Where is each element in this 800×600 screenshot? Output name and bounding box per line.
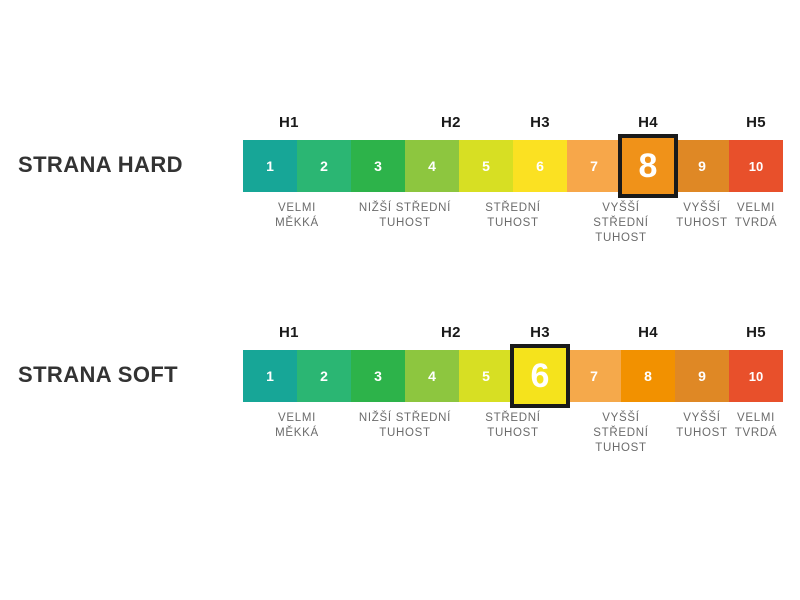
selected-hardness-value: 6: [531, 357, 550, 396]
scale-cell-value: 8: [644, 368, 652, 384]
scale-cell-1-hard[interactable]: 1: [243, 140, 297, 192]
row-title-soft: STRANA SOFT: [18, 362, 230, 388]
stiffness-descriptor-soft-4: VYŠŠÍ STŘEDNÍ TUHOST: [567, 411, 675, 456]
stiffness-descriptor-hard-4: VYŠŠÍ STŘEDNÍ TUHOST: [567, 201, 675, 246]
stiffness-descriptor-soft-2: NIŽŠÍ STŘEDNÍ TUHOST: [351, 411, 459, 441]
scale-cell-value: 3: [374, 158, 382, 174]
stiffness-descriptor-soft-3: STŘEDNÍ TUHOST: [459, 411, 567, 441]
selected-hardness-value: 8: [639, 147, 658, 186]
scale-cell-2-soft[interactable]: 2: [297, 350, 351, 402]
scale-cell-value: 2: [320, 368, 328, 384]
h-group-label-h4-soft: H4: [638, 324, 658, 341]
stiffness-descriptor-hard-2: NIŽŠÍ STŘEDNÍ TUHOST: [351, 201, 459, 231]
scale-cell-1-soft[interactable]: 1: [243, 350, 297, 402]
scale-cell-value: 7: [590, 368, 598, 384]
h-group-label-h3-soft: H3: [530, 324, 550, 341]
stiffness-descriptor-hard-3: STŘEDNÍ TUHOST: [459, 201, 567, 231]
scale-cell-value: 5: [482, 158, 490, 174]
scale-cell-9-soft[interactable]: 9: [675, 350, 729, 402]
stiffness-descriptor-soft-6: VELMI TVRDÁ: [729, 411, 783, 441]
row-title-hard: STRANA HARD: [18, 152, 230, 178]
track-area-soft: H1H2H3H4H5 123456789106 VELMI MĚKKÁNIŽŠÍ…: [243, 320, 783, 473]
h-group-label-h2-hard: H2: [441, 114, 461, 131]
scale-cell-2-hard[interactable]: 2: [297, 140, 351, 192]
scale-cell-3-soft[interactable]: 3: [351, 350, 405, 402]
scale-cell-value: 4: [428, 368, 436, 384]
scale-cell-value: 10: [749, 159, 763, 174]
scale-cell-7-soft[interactable]: 7: [567, 350, 621, 402]
descriptor-row-soft: VELMI MĚKKÁNIŽŠÍ STŘEDNÍ TUHOSTSTŘEDNÍ T…: [243, 411, 783, 473]
scale-cell-9-hard[interactable]: 9: [675, 140, 729, 192]
stiffness-descriptor-hard-5: VYŠŠÍ TUHOST: [675, 201, 729, 231]
scale-cell-5-soft[interactable]: 5: [459, 350, 513, 402]
scale-cell-8-soft[interactable]: 8: [621, 350, 675, 402]
scale-cell-value: 10: [749, 369, 763, 384]
scale-cell-10-soft[interactable]: 10: [729, 350, 783, 402]
h-group-label-h2-soft: H2: [441, 324, 461, 341]
stiffness-descriptor-soft-5: VYŠŠÍ TUHOST: [675, 411, 729, 441]
scale-cell-value: 1: [266, 368, 274, 384]
stiffness-descriptor-hard-1: VELMI MĚKKÁ: [243, 201, 351, 231]
h-label-row-hard: H1H2H3H4H5: [243, 110, 783, 140]
scale-cell-6-hard[interactable]: 6: [513, 140, 567, 192]
scale-cell-value: 3: [374, 368, 382, 384]
track-area-hard: H1H2H3H4H5 123456789108 VELMI MĚKKÁNIŽŠÍ…: [243, 110, 783, 263]
color-bar-hard: 123456789108: [243, 140, 783, 192]
descriptor-row-hard: VELMI MĚKKÁNIŽŠÍ STŘEDNÍ TUHOSTSTŘEDNÍ T…: [243, 201, 783, 263]
scale-cell-value: 4: [428, 158, 436, 174]
h-group-label-h1-soft: H1: [279, 324, 299, 341]
h-group-label-h3-hard: H3: [530, 114, 550, 131]
scale-cell-3-hard[interactable]: 3: [351, 140, 405, 192]
selected-hardness-highlight-soft[interactable]: 6: [510, 344, 570, 408]
scale-cell-value: 1: [266, 158, 274, 174]
scale-cell-10-hard[interactable]: 10: [729, 140, 783, 192]
h-group-label-h1-hard: H1: [279, 114, 299, 131]
scale-cell-7-hard[interactable]: 7: [567, 140, 621, 192]
scale-cell-value: 6: [536, 158, 544, 174]
scale-cell-value: 5: [482, 368, 490, 384]
scale-cell-4-hard[interactable]: 4: [405, 140, 459, 192]
h-group-label-h5-soft: H5: [746, 324, 766, 341]
h-group-label-h4-hard: H4: [638, 114, 658, 131]
stiffness-descriptor-hard-6: VELMI TVRDÁ: [729, 201, 783, 231]
h-group-label-h5-hard: H5: [746, 114, 766, 131]
scale-cell-value: 9: [698, 158, 706, 174]
stiffness-descriptor-soft-1: VELMI MĚKKÁ: [243, 411, 351, 441]
scale-cell-4-soft[interactable]: 4: [405, 350, 459, 402]
scale-cell-value: 2: [320, 158, 328, 174]
color-bar-soft: 123456789106: [243, 350, 783, 402]
scale-cell-value: 9: [698, 368, 706, 384]
scale-cell-5-hard[interactable]: 5: [459, 140, 513, 192]
hardness-chart-page: STRANA HARD H1H2H3H4H5 123456789108 VELM…: [0, 0, 800, 600]
selected-hardness-highlight-hard[interactable]: 8: [618, 134, 678, 198]
scale-cell-value: 7: [590, 158, 598, 174]
